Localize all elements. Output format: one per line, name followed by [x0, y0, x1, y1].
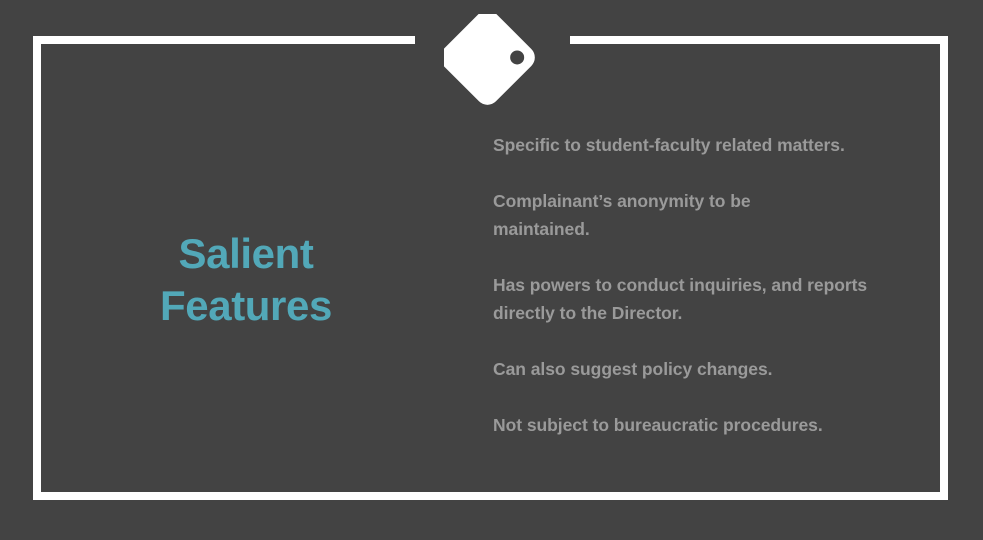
- page-title: Salient Features: [60, 228, 432, 332]
- list-item: Can also suggest policy changes.: [493, 355, 913, 383]
- list-item: Not subject to bureaucratic procedures.: [493, 411, 913, 439]
- page-title-line-2: Features: [60, 280, 432, 332]
- page-title-line-1: Salient: [60, 228, 432, 280]
- slide-canvas: Salient Features Specific to student-fac…: [0, 0, 983, 540]
- slide-content: Salient Features Specific to student-fac…: [0, 0, 983, 540]
- list-item: Has powers to conduct inquiries, and rep…: [493, 271, 913, 327]
- salient-features-list: Specific to student-faculty related matt…: [493, 131, 923, 439]
- list-item: Specific to student-faculty related matt…: [493, 131, 913, 159]
- list-item: Complainant’s anonymity to be maintained…: [493, 187, 843, 243]
